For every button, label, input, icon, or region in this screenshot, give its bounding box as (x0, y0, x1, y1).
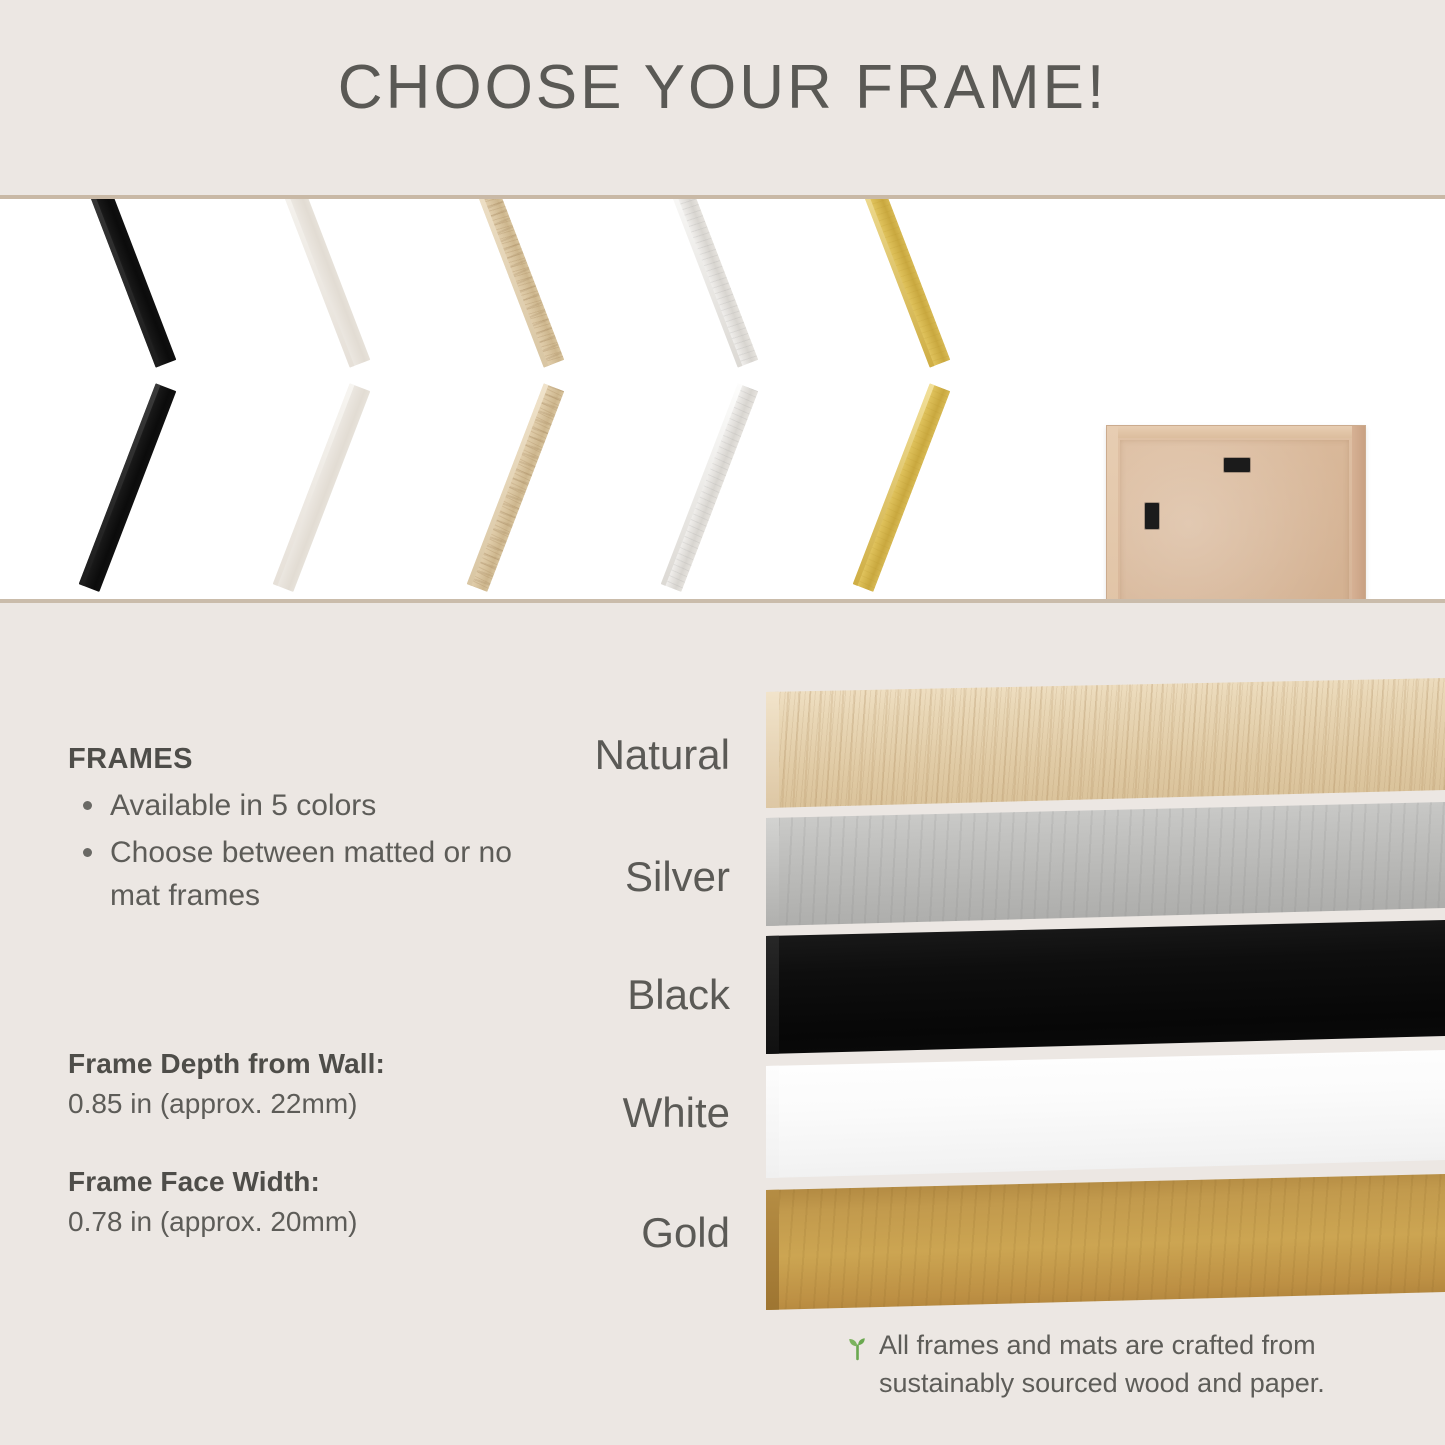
moulding-face-natural (766, 678, 1445, 808)
color-label-natural: Natural (330, 731, 730, 779)
moulding-end-cap-silver (766, 802, 779, 926)
color-label-black: Black (330, 971, 730, 1019)
color-label-silver: Silver (330, 853, 730, 901)
back-panel-rail-left (1107, 426, 1118, 599)
header-band: CHOOSE YOUR FRAME! (0, 0, 1445, 195)
page-title: CHOOSE YOUR FRAME! (0, 52, 1445, 123)
sustainability-note: All frames and mats are crafted from sus… (843, 1326, 1403, 1403)
frame-depth-label: Frame Depth from Wall: (68, 1048, 538, 1080)
silver-frame-corner[interactable] (654, 235, 864, 565)
moulding-face-silver (766, 802, 1445, 926)
black-frame-corner[interactable] (72, 235, 282, 565)
sustainability-text: All frames and mats are crafted from sus… (843, 1326, 1403, 1403)
natural-frame-corner[interactable] (460, 235, 670, 565)
frame-back-panel[interactable] (1106, 425, 1366, 599)
moulding-bar-gold[interactable] (766, 1174, 1445, 1310)
moulding-face-gold (766, 1174, 1445, 1310)
white-frame-corner[interactable] (266, 235, 476, 565)
moulding-end-cap-gold (766, 1174, 779, 1310)
infographic-page: CHOOSE YOUR FRAME! (0, 0, 1445, 1445)
moulding-bar-natural[interactable] (766, 678, 1445, 808)
back-panel-rail-right (1352, 426, 1365, 599)
moulding-end-cap-natural (766, 678, 779, 808)
list-item: Available in 5 colors (110, 784, 538, 827)
details-section: FRAMES Available in 5 colors Choose betw… (0, 603, 1445, 1445)
hanging-hardware-top-icon (1224, 458, 1250, 472)
moulding-bar-silver[interactable] (766, 802, 1445, 926)
gold-frame-corner[interactable] (846, 235, 1056, 565)
sprout-icon (843, 1332, 873, 1362)
color-label-gold: Gold (330, 1209, 730, 1257)
moulding-end-cap-white (766, 1050, 779, 1178)
moulding-bar-white[interactable] (766, 1050, 1445, 1178)
moulding-bar-black[interactable] (766, 920, 1445, 1054)
frame-corner-sample-band (0, 199, 1445, 599)
hanging-hardware-middle-icon (1145, 503, 1159, 529)
frame-face-width-label: Frame Face Width: (68, 1166, 538, 1198)
moulding-end-cap-black (766, 920, 779, 1054)
moulding-sample-stack (766, 678, 1445, 1333)
moulding-face-black (766, 920, 1445, 1054)
color-label-white: White (330, 1089, 730, 1137)
moulding-face-white (766, 1050, 1445, 1178)
back-panel-rail-top (1107, 426, 1365, 438)
